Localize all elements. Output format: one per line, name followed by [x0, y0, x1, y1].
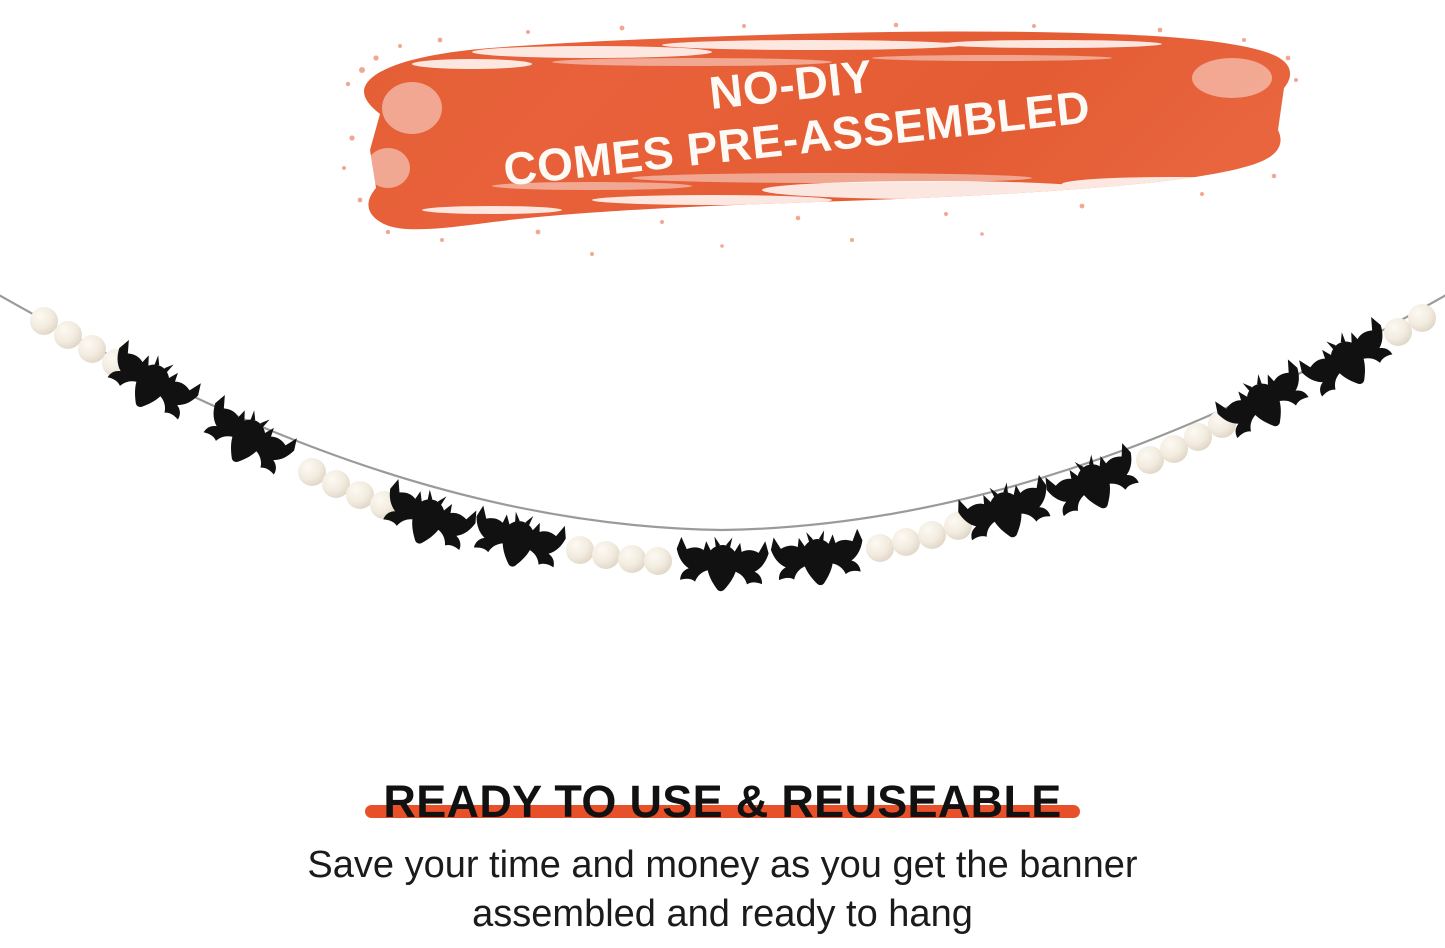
garland-illustration	[0, 268, 1445, 598]
brushstroke-shape	[292, 18, 1302, 263]
bat-shape	[769, 526, 866, 590]
bead-group	[1136, 410, 1236, 474]
footer-copy: READY TO USE & REUSEABLE Save your time …	[0, 778, 1445, 948]
bead-group	[1384, 304, 1436, 346]
bat-shape	[375, 476, 481, 561]
subcopy-line-2: assembled and ready to hang	[0, 890, 1445, 939]
marketing-image-root: NO-DIY COMES PRE-ASSEMBLED	[0, 0, 1445, 948]
bat-shape	[1041, 440, 1147, 527]
bead-group	[30, 307, 130, 377]
page-headline: READY TO USE & REUSEABLE	[383, 778, 1061, 825]
subcopy-line-1: Save your time and money as you get the …	[0, 841, 1445, 890]
bead-group	[866, 512, 972, 562]
bead-group	[298, 458, 398, 519]
bat-bead-garland	[0, 268, 1445, 598]
bat-shape	[954, 472, 1058, 551]
headline-wrap: READY TO USE & REUSEABLE	[377, 778, 1067, 825]
subcopy: Save your time and money as you get the …	[0, 841, 1445, 938]
no-diy-badge: NO-DIY COMES PRE-ASSEMBLED	[292, 18, 1302, 263]
bat-shape	[675, 535, 770, 594]
bead-group	[566, 536, 672, 575]
garland-elements	[30, 304, 1436, 594]
